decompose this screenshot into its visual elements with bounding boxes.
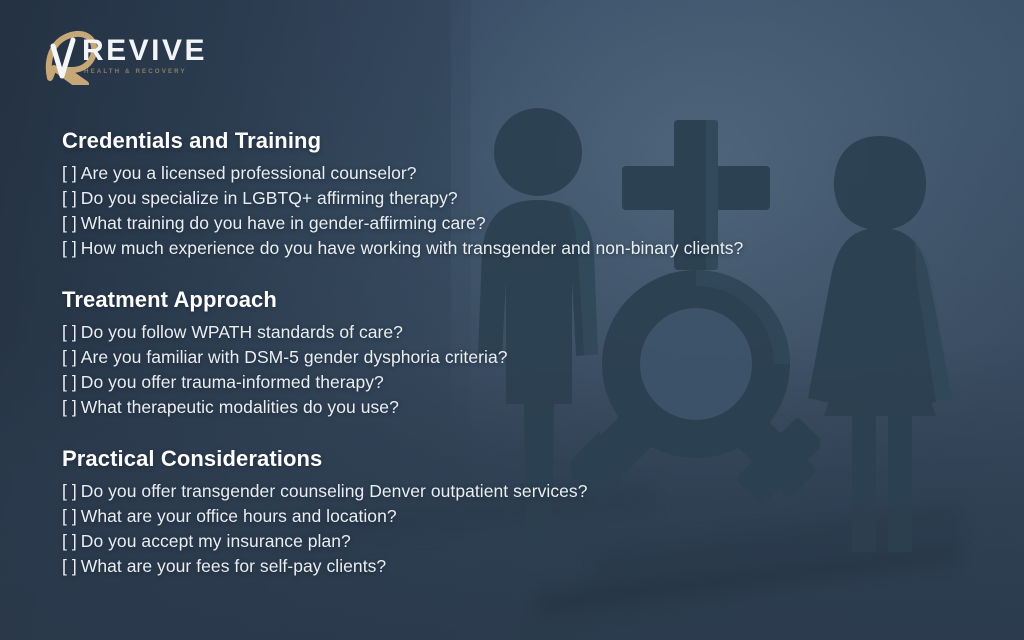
check-item-label: Do you follow WPATH standards of care? bbox=[81, 322, 403, 342]
check-item[interactable]: [ ]Do you offer transgender counseling D… bbox=[62, 479, 984, 504]
check-item[interactable]: [ ]Are you a licensed professional couns… bbox=[62, 161, 984, 186]
check-item-label: Do you offer trauma-informed therapy? bbox=[81, 372, 384, 392]
check-item-label: What training do you have in gender-affi… bbox=[81, 213, 486, 233]
check-item-label: Do you accept my insurance plan? bbox=[81, 531, 351, 551]
checkbox-glyph[interactable]: [ ] bbox=[62, 163, 77, 183]
checkbox-glyph[interactable]: [ ] bbox=[62, 506, 77, 526]
check-item-label: Are you familiar with DSM-5 gender dysph… bbox=[81, 347, 508, 367]
checkbox-glyph[interactable]: [ ] bbox=[62, 238, 77, 258]
checkbox-glyph[interactable]: [ ] bbox=[62, 372, 77, 392]
checklist: [ ]Do you follow WPATH standards of care… bbox=[62, 320, 984, 420]
section-treatment-approach: Treatment Approach [ ]Do you follow WPAT… bbox=[62, 287, 984, 420]
checkbox-glyph[interactable]: [ ] bbox=[62, 213, 77, 233]
check-item[interactable]: [ ]Do you accept my insurance plan? bbox=[62, 529, 984, 554]
section-title: Treatment Approach bbox=[62, 287, 984, 313]
checkbox-glyph[interactable]: [ ] bbox=[62, 397, 77, 417]
check-item-label: What are your fees for self-pay clients? bbox=[81, 556, 386, 576]
section-credentials-and-training: Credentials and Training [ ]Are you a li… bbox=[62, 128, 984, 261]
checklist: [ ]Do you offer transgender counseling D… bbox=[62, 479, 984, 579]
check-item-label: Are you a licensed professional counselo… bbox=[81, 163, 417, 183]
section-practical-considerations: Practical Considerations [ ]Do you offer… bbox=[62, 446, 984, 579]
section-title: Practical Considerations bbox=[62, 446, 984, 472]
check-item-label: Do you specialize in LGBTQ+ affirming th… bbox=[81, 188, 458, 208]
brand-tagline: HEALTH & RECOVERY bbox=[84, 68, 187, 75]
check-item-label: How much experience do you have working … bbox=[81, 238, 744, 258]
check-item[interactable]: [ ]What training do you have in gender-a… bbox=[62, 211, 984, 236]
checklist: [ ]Are you a licensed professional couns… bbox=[62, 161, 984, 261]
check-item[interactable]: [ ]How much experience do you have worki… bbox=[62, 236, 984, 261]
check-item[interactable]: [ ]Do you follow WPATH standards of care… bbox=[62, 320, 984, 345]
checkbox-glyph[interactable]: [ ] bbox=[62, 531, 77, 551]
section-title: Credentials and Training bbox=[62, 128, 984, 154]
checkbox-glyph[interactable]: [ ] bbox=[62, 347, 77, 367]
check-item-label: What therapeutic modalities do you use? bbox=[81, 397, 399, 417]
check-item[interactable]: [ ]Do you offer trauma-informed therapy? bbox=[62, 370, 984, 395]
check-item[interactable]: [ ]Are you familiar with DSM-5 gender dy… bbox=[62, 345, 984, 370]
brand-wordmark: REVIVE bbox=[82, 36, 207, 66]
checkbox-glyph[interactable]: [ ] bbox=[62, 481, 77, 501]
check-item[interactable]: [ ]What are your fees for self-pay clien… bbox=[62, 554, 984, 579]
check-item-label: Do you offer transgender counseling Denv… bbox=[81, 481, 588, 501]
check-item[interactable]: [ ]Do you specialize in LGBTQ+ affirming… bbox=[62, 186, 984, 211]
checkbox-glyph[interactable]: [ ] bbox=[62, 556, 77, 576]
check-item[interactable]: [ ]What are your office hours and locati… bbox=[62, 504, 984, 529]
check-item-label: What are your office hours and location? bbox=[81, 506, 397, 526]
checklist-content: Credentials and Training [ ]Are you a li… bbox=[62, 128, 984, 579]
check-item[interactable]: [ ]What therapeutic modalities do you us… bbox=[62, 395, 984, 420]
brand-logo[interactable]: REVIVE HEALTH & RECOVERY bbox=[40, 30, 190, 85]
checkbox-glyph[interactable]: [ ] bbox=[62, 322, 77, 342]
checkbox-glyph[interactable]: [ ] bbox=[62, 188, 77, 208]
